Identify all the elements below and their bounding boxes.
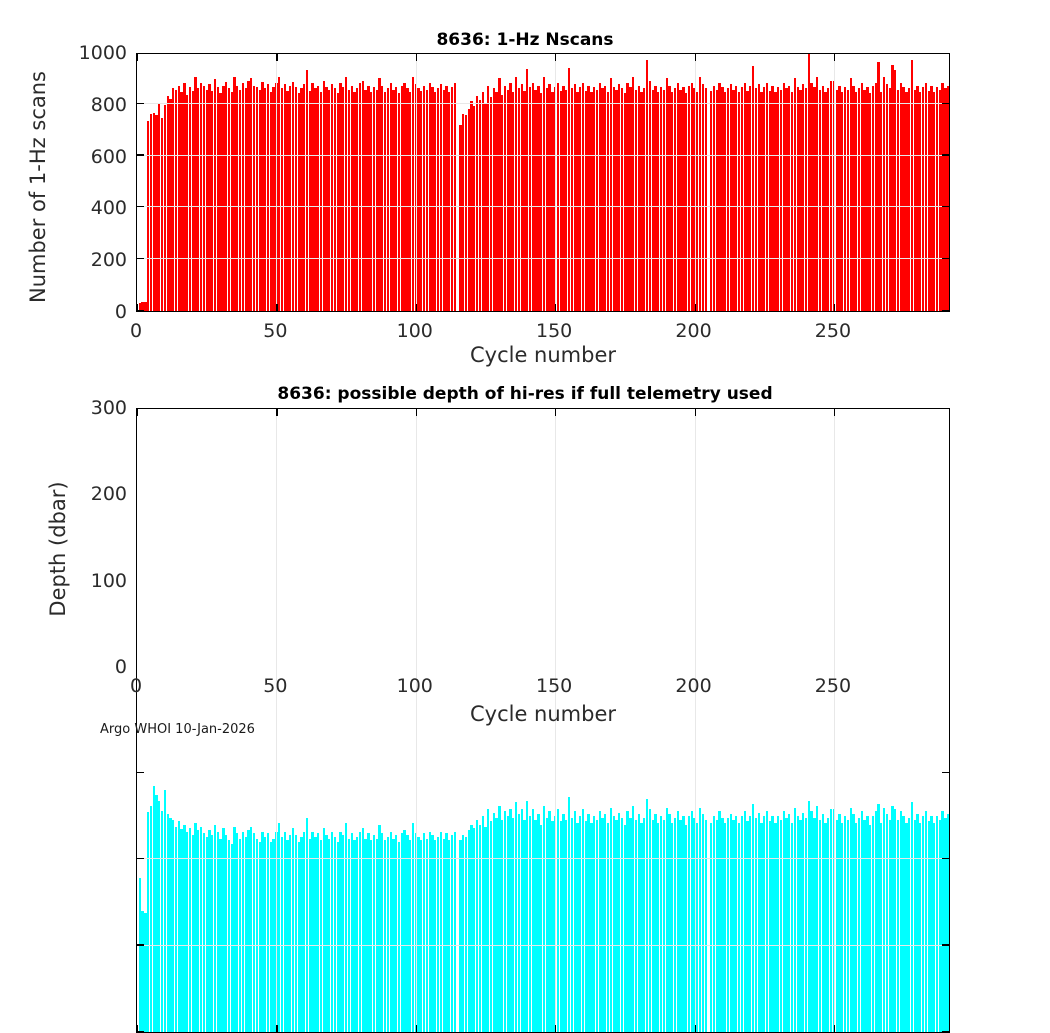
x-tick-mark <box>834 54 835 61</box>
gridline-horizontal <box>137 206 949 207</box>
bar-series-nscans <box>137 54 949 311</box>
x-tick-mark <box>834 409 835 416</box>
gridline-horizontal <box>137 103 949 104</box>
x-tick-mark <box>137 1025 138 1032</box>
y-axis-label-depth: Depth (dbar) <box>46 449 70 649</box>
figure-footer: Argo WHOI 10-Jan-2026 <box>100 722 255 737</box>
bar <box>705 88 707 311</box>
x-tick-mark <box>555 304 556 311</box>
x-tick-mark <box>555 1025 556 1032</box>
x-tick-mark <box>416 304 417 311</box>
panel-nscans: 8636: 1-Hz Nscans 0200400600800100005010… <box>0 0 1050 372</box>
y-tick-label: 0 <box>115 656 127 678</box>
gridline-horizontal <box>137 945 949 946</box>
y-axis-label-nscans: Number of 1-Hz scans <box>26 57 50 317</box>
x-tick-mark <box>695 304 696 311</box>
y-tick-mark <box>137 103 144 104</box>
y-tick-label: 0 <box>115 301 127 323</box>
gridline-vertical <box>276 54 277 311</box>
y-tick-label: 1000 <box>79 42 127 64</box>
panel-depth: 8636: possible depth of hi-res if full t… <box>0 372 1050 750</box>
y-tick-mark <box>137 206 144 207</box>
y-tick-label: 400 <box>91 197 127 219</box>
x-axis-label-depth: Cycle number <box>136 702 950 726</box>
bar <box>947 814 949 1032</box>
x-tick-mark <box>695 1025 696 1032</box>
y-tick-mark <box>942 944 949 945</box>
gridline-horizontal <box>137 258 949 259</box>
x-tick-mark <box>695 409 696 416</box>
x-tick-mark <box>416 409 417 416</box>
x-tick-label: 100 <box>397 675 433 697</box>
y-tick-mark <box>137 858 144 859</box>
x-tick-label: 50 <box>263 320 287 342</box>
x-tick-mark <box>555 54 556 61</box>
y-tick-label: 200 <box>91 249 127 271</box>
x-tick-label: 0 <box>130 320 142 342</box>
x-tick-mark <box>276 409 277 416</box>
y-tick-label: 300 <box>91 397 127 419</box>
gridline-horizontal <box>137 155 949 156</box>
x-tick-label: 150 <box>536 320 572 342</box>
x-tick-mark <box>416 1025 417 1032</box>
bar <box>454 832 456 1032</box>
y-tick-mark <box>942 206 949 207</box>
chart-title-depth: 8636: possible depth of hi-res if full t… <box>0 384 1050 404</box>
x-tick-mark <box>137 54 138 61</box>
y-tick-mark <box>137 258 144 259</box>
y-tick-mark <box>942 772 949 773</box>
y-tick-mark <box>942 310 949 311</box>
x-tick-mark <box>416 54 417 61</box>
x-tick-label: 150 <box>536 675 572 697</box>
y-tick-label: 800 <box>91 94 127 116</box>
x-tick-mark <box>834 1025 835 1032</box>
y-tick-mark <box>942 1031 949 1032</box>
x-axis-label-nscans: Cycle number <box>136 343 950 367</box>
matlab-figure: 8636: 1-Hz Nscans 0200400600800100005010… <box>0 0 1050 750</box>
x-tick-mark <box>137 409 138 416</box>
y-tick-mark <box>137 944 144 945</box>
x-tick-label: 50 <box>263 675 287 697</box>
y-tick-mark <box>137 772 144 773</box>
y-tick-label: 200 <box>91 483 127 505</box>
y-tick-mark <box>942 858 949 859</box>
bar <box>454 83 456 311</box>
y-tick-mark <box>137 154 144 155</box>
gridline-vertical <box>555 54 556 311</box>
gridline-horizontal <box>137 858 949 859</box>
x-tick-mark <box>137 304 138 311</box>
chart-title-nscans: 8636: 1-Hz Nscans <box>0 30 1050 50</box>
x-tick-label: 250 <box>815 320 851 342</box>
y-tick-mark <box>942 103 949 104</box>
gridline-vertical <box>834 54 835 311</box>
x-tick-mark <box>834 304 835 311</box>
x-tick-label: 200 <box>675 320 711 342</box>
bar <box>947 86 949 311</box>
x-tick-mark <box>276 304 277 311</box>
gridline-vertical <box>695 54 696 311</box>
y-tick-label: 100 <box>91 570 127 592</box>
x-tick-mark <box>555 409 556 416</box>
bar <box>705 820 707 1032</box>
x-tick-label: 250 <box>815 675 851 697</box>
y-tick-mark <box>942 258 949 259</box>
x-tick-label: 100 <box>397 320 433 342</box>
plot-area-nscans <box>136 53 950 312</box>
x-tick-label: 0 <box>130 675 142 697</box>
x-tick-mark <box>276 54 277 61</box>
y-tick-mark <box>942 154 949 155</box>
x-tick-mark <box>695 54 696 61</box>
y-tick-label: 600 <box>91 146 127 168</box>
x-tick-mark <box>276 1025 277 1032</box>
x-tick-label: 200 <box>675 675 711 697</box>
gridline-vertical <box>416 54 417 311</box>
